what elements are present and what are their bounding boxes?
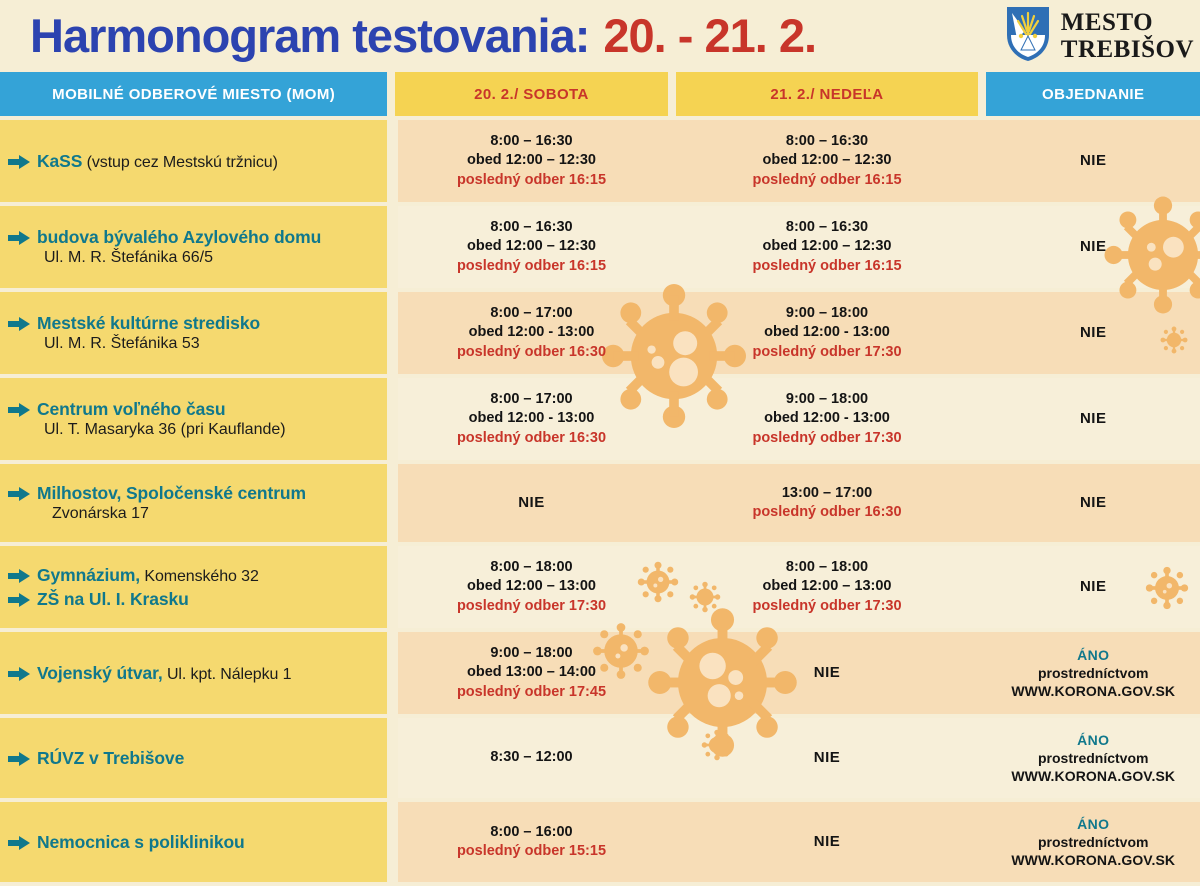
time-hours: 9:00 – 18:00 [786,390,868,409]
order-not-required: NIE [1080,577,1107,597]
table-row: Vojenský útvar, Ul. kpt. Nálepku 19:00 –… [0,632,1200,714]
time-hours: 8:00 – 16:00 [490,823,572,842]
venue-address: Ul. T. Masaryka 36 (pri Kauflande) [44,421,387,439]
cell-order-row-0: NIE [986,120,1200,202]
venue-secondary-line: ZŠ na Ul. I. Krasku [8,589,387,610]
time-lunch: obed 12:00 - 13:00 [764,323,890,342]
cell-sunday-row-3: 9:00 – 18:00obed 12:00 - 13:00posledný o… [676,378,979,460]
time-lunch: obed 12:00 - 13:00 [469,409,595,428]
order-required: ÁNO [1077,731,1109,749]
venue-name: Centrum voľného času [37,399,226,420]
time-last-sample: posledný odber 16:30 [457,343,606,362]
time-lunch: obed 12:00 - 13:00 [469,323,595,342]
arrow-right-icon [8,667,30,681]
logo-line-2: TREBIŠOV [1061,37,1194,63]
cell-saturday-row-0: 8:00 – 16:30obed 12:00 – 12:30posledný o… [395,120,667,202]
venue-primary-line: Centrum voľného času [8,399,387,420]
time-last-sample: posledný odber 16:30 [752,503,901,522]
schedule-table: MOBILNÉ ODBEROVÉ MIESTO (MOM) 20. 2./ SO… [0,72,1200,848]
time-last-sample: posledný odber 15:15 [457,842,606,861]
time-last-sample: posledný odber 16:15 [752,257,901,276]
table-row: Nemocnica s poliklinikou8:00 – 16:00posl… [0,802,1200,882]
cell-order-row-2: NIE [986,292,1200,374]
arrow-right-icon [8,487,30,501]
arrow-right-icon [8,569,30,583]
time-lunch: obed 12:00 – 12:30 [763,151,892,170]
order-via-label: prostredníctvom [1038,749,1148,767]
arrow-right-icon [8,231,30,245]
column-header-venue: MOBILNÉ ODBEROVÉ MIESTO (MOM) [0,72,387,116]
cell-venue-row-0: KaSS (vstup cez Mestskú tržnicu) [0,120,387,202]
arrow-right-icon [8,836,30,850]
time-unavailable: NIE [518,493,545,513]
venue-name-suffix: (vstup cez Mestskú tržnicu) [82,154,277,171]
venue-name: Nemocnica s poliklinikou [37,832,245,853]
order-not-required: NIE [1080,493,1107,513]
cell-sunday-row-0: 8:00 – 16:30obed 12:00 – 12:30posledný o… [676,120,979,202]
time-last-sample: posledný odber 16:15 [457,171,606,190]
cell-saturday-row-4: NIE [395,464,667,542]
cell-saturday-row-1: 8:00 – 16:30obed 12:00 – 12:30posledný o… [395,206,667,288]
venue-primary-line: Gymnázium, Komenského 32 [8,565,387,586]
order-via-label: prostredníctvom [1038,833,1148,851]
logo-line-1: MESTO [1061,10,1194,36]
time-hours: 8:00 – 17:00 [490,390,572,409]
cell-order-row-8: ÁNOprostredníctvomWWW.KORONA.GOV.SK [986,802,1200,882]
venue-primary-line: budova bývalého Azylového domu [8,227,387,248]
cell-saturday-row-3: 8:00 – 17:00obed 12:00 - 13:00posledný o… [395,378,667,460]
time-lunch: obed 12:00 – 13:00 [763,577,892,596]
venue-name: budova bývalého Azylového domu [37,227,321,248]
time-last-sample: posledný odber 17:30 [752,429,901,448]
venue-name: Vojenský útvar, Ul. kpt. Nálepku 1 [37,663,291,684]
order-not-required: NIE [1080,409,1107,429]
time-hours: 8:00 – 16:30 [490,218,572,237]
column-header-sunday: 21. 2./ NEDEĽA [676,72,979,116]
venue-name: Mestské kultúrne stredisko [37,313,260,334]
venue-primary-line: Vojenský útvar, Ul. kpt. Nálepku 1 [8,663,387,684]
time-lunch: obed 12:00 - 13:00 [764,409,890,428]
time-lunch: obed 12:00 – 13:00 [467,577,596,596]
cell-saturday-row-8: 8:00 – 16:00posledný odber 15:15 [395,802,667,882]
cell-order-row-7: ÁNOprostredníctvomWWW.KORONA.GOV.SK [986,718,1200,798]
time-lunch: obed 12:00 – 12:30 [763,237,892,256]
table-header-row: MOBILNÉ ODBEROVÉ MIESTO (MOM) 20. 2./ SO… [0,72,1200,116]
arrow-right-icon [8,403,30,417]
cell-sunday-row-4: 13:00 – 17:00posledný odber 16:30 [676,464,979,542]
page-title: Harmonogram testovania: 20. - 21. 2. [30,8,816,63]
time-hours: 9:00 – 18:00 [490,644,572,663]
cell-venue-row-6: Vojenský útvar, Ul. kpt. Nálepku 1 [0,632,387,714]
time-unavailable: NIE [814,832,841,852]
venue-name-suffix: Komenského 32 [140,568,259,585]
venue-primary-line: KaSS (vstup cez Mestskú tržnicu) [8,151,387,172]
order-required: ÁNO [1077,815,1109,833]
time-last-sample: posledný odber 17:30 [752,343,901,362]
venue-primary-line: Mestské kultúrne stredisko [8,313,387,334]
time-hours: 8:00 – 16:30 [786,132,868,151]
venue-name: KaSS (vstup cez Mestskú tržnicu) [37,151,278,172]
table-row: KaSS (vstup cez Mestskú tržnicu)8:00 – 1… [0,120,1200,202]
time-hours: 9:00 – 18:00 [786,304,868,323]
time-hours: 8:00 – 18:00 [490,558,572,577]
table-row: Centrum voľného časuUl. T. Masaryka 36 (… [0,378,1200,460]
table-row: budova bývalého Azylového domuUl. M. R. … [0,206,1200,288]
page-title-dates: 20. - 21. 2. [603,8,816,63]
cell-venue-row-1: budova bývalého Azylového domuUl. M. R. … [0,206,387,288]
venue-primary-line: Milhostov, Spoločenské centrum [8,483,387,504]
cell-venue-row-8: Nemocnica s poliklinikou [0,802,387,882]
time-hours: 8:00 – 16:30 [786,218,868,237]
venue-name: Gymnázium, Komenského 32 [37,565,259,586]
time-last-sample: posledný odber 16:15 [457,257,606,276]
cell-venue-row-3: Centrum voľného časuUl. T. Masaryka 36 (… [0,378,387,460]
time-hours: 13:00 – 17:00 [782,484,872,503]
venue-name: Milhostov, Spoločenské centrum [37,483,306,504]
time-hours: 8:00 – 16:30 [490,132,572,151]
cell-sunday-row-5: 8:00 – 18:00obed 12:00 – 13:00posledný o… [676,546,979,628]
cell-venue-row-4: Milhostov, Spoločenské centrumZvonárska … [0,464,387,542]
venue-primary-line: RÚVZ v Trebišove [8,748,387,769]
city-logo: MESTO TREBIŠOV [1005,5,1194,68]
page-header: Harmonogram testovania: 20. - 21. 2. [0,0,1200,72]
cell-sunday-row-1: 8:00 – 16:30obed 12:00 – 12:30posledný o… [676,206,979,288]
venue-address: Ul. M. R. Štefánika 53 [44,335,387,353]
cell-sunday-row-2: 9:00 – 18:00obed 12:00 - 13:00posledný o… [676,292,979,374]
table-body: KaSS (vstup cez Mestskú tržnicu)8:00 – 1… [0,120,1200,886]
cell-order-row-3: NIE [986,378,1200,460]
table-row: Mestské kultúrne strediskoUl. M. R. Štef… [0,292,1200,374]
time-last-sample: posledný odber 16:30 [457,429,606,448]
arrow-right-icon [8,317,30,331]
time-lunch: obed 12:00 – 12:30 [467,237,596,256]
cell-venue-row-5: Gymnázium, Komenského 32ZŠ na Ul. I. Kra… [0,546,387,628]
cell-saturday-row-2: 8:00 – 17:00obed 12:00 - 13:00posledný o… [395,292,667,374]
arrow-right-icon [8,593,30,607]
cell-venue-row-2: Mestské kultúrne strediskoUl. M. R. Štef… [0,292,387,374]
cell-order-row-4: NIE [986,464,1200,542]
cell-order-row-6: ÁNOprostredníctvomWWW.KORONA.GOV.SK [986,632,1200,714]
order-url[interactable]: WWW.KORONA.GOV.SK [1011,851,1175,869]
cell-saturday-row-5: 8:00 – 18:00obed 12:00 – 13:00posledný o… [395,546,667,628]
venue-primary-line: Nemocnica s poliklinikou [8,832,387,853]
cell-sunday-row-6: NIE [676,632,979,714]
coat-of-arms-icon [1005,5,1051,68]
order-not-required: NIE [1080,237,1107,257]
cell-saturday-row-6: 9:00 – 18:00obed 13:00 – 14:00posledný o… [395,632,667,714]
time-last-sample: posledný odber 17:30 [457,597,606,616]
venue-address: Zvonárska 17 [52,505,387,523]
order-via-label: prostredníctvom [1038,664,1148,682]
cell-venue-row-7: RÚVZ v Trebišove [0,718,387,798]
time-lunch: obed 13:00 – 14:00 [467,663,596,682]
time-last-sample: posledný odber 17:30 [752,597,901,616]
time-last-sample: posledný odber 16:15 [752,171,901,190]
arrow-right-icon [8,155,30,169]
table-row: Gymnázium, Komenského 32ZŠ na Ul. I. Kra… [0,546,1200,628]
order-required: ÁNO [1077,646,1109,664]
time-hours: 8:00 – 17:00 [490,304,572,323]
cell-sunday-row-7: NIE [676,718,979,798]
time-hours: 8:00 – 18:00 [786,558,868,577]
column-header-saturday: 20. 2./ SOBOTA [395,72,667,116]
cell-saturday-row-7: 8:30 – 12:00 [395,718,667,798]
time-hours: 8:30 – 12:00 [490,748,572,767]
column-header-order: OBJEDNANIE [986,72,1200,116]
cell-order-row-5: NIE [986,546,1200,628]
table-row: RÚVZ v Trebišove8:30 – 12:00NIEÁNOprostr… [0,718,1200,798]
time-last-sample: posledný odber 17:45 [457,683,606,702]
page-title-main: Harmonogram testovania: [30,8,589,63]
city-logo-text: MESTO TREBIŠOV [1061,10,1194,63]
arrow-right-icon [8,752,30,766]
order-not-required: NIE [1080,151,1107,171]
venue-name-2: ZŠ na Ul. I. Krasku [37,589,189,610]
time-unavailable: NIE [814,663,841,683]
time-lunch: obed 12:00 – 12:30 [467,151,596,170]
venue-name-suffix: Ul. kpt. Nálepku 1 [163,666,292,683]
order-url[interactable]: WWW.KORONA.GOV.SK [1011,767,1175,785]
venue-name: RÚVZ v Trebišove [37,748,184,769]
order-not-required: NIE [1080,323,1107,343]
cell-sunday-row-8: NIE [676,802,979,882]
cell-order-row-1: NIE [986,206,1200,288]
time-unavailable: NIE [814,748,841,768]
venue-address: Ul. M. R. Štefánika 66/5 [44,249,387,267]
order-url[interactable]: WWW.KORONA.GOV.SK [1011,682,1175,700]
table-row: Milhostov, Spoločenské centrumZvonárska … [0,464,1200,542]
